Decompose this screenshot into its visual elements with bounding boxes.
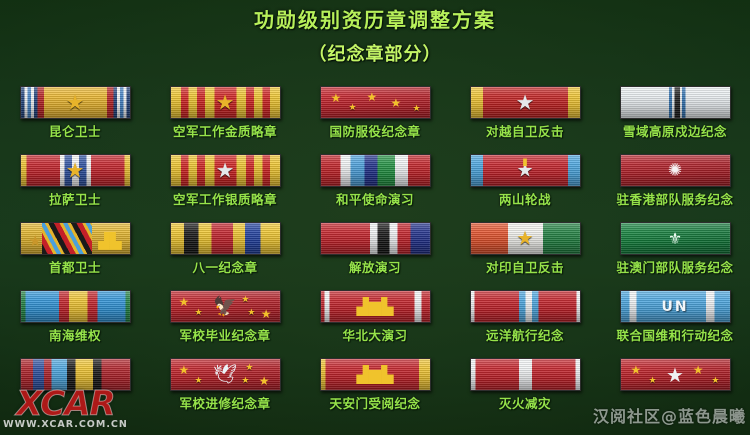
- ribbon-label: 天安门受阅纪念: [329, 396, 420, 411]
- ribbon-cell[interactable]: ★ 昆仑卫士: [0, 86, 150, 154]
- gold-star-icon: ★: [29, 232, 42, 250]
- ribbon-cell[interactable]: ⚜ 驻澳门部队服务纪念: [600, 222, 750, 290]
- ribbon-cell[interactable]: 🕊 ★ ★ ★ ★ ★ 军校进修纪念章: [150, 358, 300, 426]
- gold-star-icon: ★: [241, 376, 249, 386]
- gold-star-icon: ★: [66, 160, 85, 181]
- ribbon-label: 拉萨卫士: [49, 192, 101, 207]
- gold-silver-star-icon: ★: [516, 161, 533, 180]
- ribbon-bar-academy-training[interactable]: 🕊 ★ ★ ★ ★ ★: [170, 358, 281, 391]
- ribbon-label: 远洋航行纪念: [486, 328, 564, 343]
- xcar-url-text: WWW.XCAR.COM.CN: [3, 419, 128, 431]
- ribbon-cell[interactable]: ✺ 驻香港部队服务纪念: [600, 154, 750, 222]
- ribbon-grid: ★ 昆仑卫士 ★ 空军工作金质略章 ★ ★ ★ ★ ★ 国防服役纪念章 ★: [0, 86, 750, 426]
- ribbon-bar-plateau-border[interactable]: [620, 86, 731, 119]
- gold-star-icon: ★: [367, 90, 378, 104]
- ribbon-row: 南海维权 🦅 ★ ★ ★ ★ ★ 军校毕业纪念章 ▟▆▙ 华北大演习 远洋航行纪…: [0, 290, 750, 358]
- ribbon-bar-tiananmen-parade[interactable]: ▟▆▙: [320, 358, 431, 391]
- ribbon-label: 军校毕业纪念章: [179, 328, 270, 343]
- ribbon-label: 国防服役纪念章: [329, 124, 420, 139]
- ribbon-cell[interactable]: ★ 空军工作银质略章: [150, 154, 300, 222]
- ribbon-label: 空军工作金质略章: [173, 124, 277, 139]
- ribbon-label: 空军工作银质略章: [173, 192, 277, 207]
- ribbon-cell[interactable]: ★ 对越自卫反击: [450, 86, 600, 154]
- ribbon-bar-bayi[interactable]: [170, 222, 281, 255]
- ribbon-bar-defense-service[interactable]: ★ ★ ★ ★ ★: [320, 86, 431, 119]
- ribbon-bar-academy-graduation[interactable]: 🦅 ★ ★ ★ ★ ★: [170, 290, 281, 323]
- ribbon-bar-peace-mission[interactable]: [320, 154, 431, 187]
- ribbon-cell[interactable]: ▟▆▙ 华北大演习: [300, 290, 450, 358]
- ribbon-label: 联合国维和行动纪念: [616, 328, 733, 343]
- ribbon-bar-south-sea-rights[interactable]: [20, 290, 131, 323]
- gold-star-icon: ★: [247, 308, 255, 318]
- gold-star-icon: ★: [245, 363, 253, 373]
- gold-star-icon: ★: [331, 91, 342, 105]
- ribbon-label: 对越自卫反击: [486, 124, 564, 139]
- gold-star-icon: ★: [261, 307, 272, 321]
- gold-star-icon: ★: [195, 376, 203, 386]
- gold-star-icon: ▮: [522, 157, 528, 168]
- ribbon-label: 驻香港部队服务纪念: [616, 192, 733, 207]
- gold-star-icon: ★: [631, 363, 642, 377]
- ribbon-cell[interactable]: ★ ▮ 两山轮战: [450, 154, 600, 222]
- gold-star-icon: ★: [259, 374, 270, 388]
- ribbon-label: 驻澳门部队服务纪念: [616, 260, 733, 275]
- gold-star-icon: ★: [179, 295, 190, 309]
- ribbon-bar-macau-garrison[interactable]: ⚜: [620, 222, 731, 255]
- ribbon-bar-airforce-silver[interactable]: ★: [170, 154, 281, 187]
- un-letters-icon: UN: [661, 300, 688, 314]
- ribbon-bar-counterattack-vietnam[interactable]: ★: [470, 86, 581, 119]
- gold-star-icon: ★: [66, 92, 85, 113]
- ribbon-cell[interactable]: ★ 对印自卫反击: [450, 222, 600, 290]
- ribbon-cell[interactable]: 南海维权: [0, 290, 150, 358]
- ribbon-label: 军校进修纪念章: [179, 396, 270, 411]
- ribbon-bar-kunlun[interactable]: ★: [20, 86, 131, 119]
- eagle-icon: 🦅: [213, 297, 237, 316]
- ribbon-bar-row5-col5[interactable]: ★ ★ ★ ★ ★: [620, 358, 731, 391]
- ribbon-bar-firefighting-relief[interactable]: [470, 358, 581, 391]
- page-title: 功勋级别资历章调整方案: [0, 7, 750, 33]
- ribbon-label: 昆仑卫士: [49, 124, 101, 139]
- ribbon-label: 灭火减灾: [499, 396, 551, 411]
- ribbon-cell[interactable]: 八一纪念章: [150, 222, 300, 290]
- ribbon-cell[interactable]: ★ ▟▙ 首都卫士: [0, 222, 150, 290]
- ribbon-bar-un-peacekeeping[interactable]: UN: [620, 290, 731, 323]
- ribbon-bar-counterattack-india[interactable]: ★: [470, 222, 581, 255]
- page-title-block: 功勋级别资历章调整方案 （纪念章部分）: [0, 0, 750, 67]
- bauhinia-flower-icon: ✺: [668, 162, 682, 179]
- ribbon-cell[interactable]: 解放演习: [300, 222, 450, 290]
- ribbon-bar-two-mountains[interactable]: ★ ▮: [470, 154, 581, 187]
- lotus-flower-icon: ⚜: [668, 231, 682, 247]
- xcar-logo-text: XCAR: [3, 389, 128, 419]
- diagonal-stripes: [42, 223, 92, 254]
- gold-star-icon: ★: [693, 363, 704, 377]
- silver-star-icon: ★: [516, 92, 535, 113]
- ribbon-cell[interactable]: UN 联合国维和行动纪念: [600, 290, 750, 358]
- ribbon-label: 对印自卫反击: [486, 260, 564, 275]
- ribbon-bar-lhasa[interactable]: ★: [20, 154, 131, 187]
- ribbon-label: 解放演习: [349, 260, 401, 275]
- ribbon-bar-capital-guard[interactable]: ★ ▟▙: [20, 222, 131, 255]
- gold-star-icon: ★: [216, 92, 235, 113]
- ribbon-label: 南海维权: [49, 328, 101, 343]
- ribbon-label: 华北大演习: [342, 328, 407, 343]
- dove-icon: 🕊: [213, 365, 237, 384]
- xcar-watermark: XCAR WWW.XCAR.COM.CN: [3, 389, 128, 431]
- gold-star-icon: ★: [711, 376, 719, 386]
- ribbon-cell[interactable]: 🦅 ★ ★ ★ ★ ★ 军校毕业纪念章: [150, 290, 300, 358]
- silver-star-icon: ★: [216, 160, 235, 181]
- tiananmen-gate-icon: ▟▆▙: [357, 367, 394, 383]
- ribbon-label: 两山轮战: [499, 192, 551, 207]
- ribbon-cell[interactable]: ▟▆▙ 天安门受阅纪念: [300, 358, 450, 426]
- tiananmen-gate-icon: ▟▆▙: [357, 299, 394, 315]
- gold-star-icon: ★: [195, 308, 203, 318]
- gold-star-icon: ★: [413, 104, 421, 114]
- page-subtitle: （纪念章部分）: [0, 43, 750, 67]
- ribbon-bar-airforce-gold[interactable]: ★: [170, 86, 281, 119]
- gold-star-icon: ★: [516, 229, 533, 248]
- gold-star-icon: ★: [349, 103, 357, 113]
- ribbon-label: 首都卫士: [49, 260, 101, 275]
- ribbon-label: 和平使命演习: [336, 192, 414, 207]
- gold-star-icon: ★: [179, 363, 190, 377]
- ribbon-label: 雪域高原戍边纪念: [623, 124, 727, 139]
- forum-watermark: 汉阅社区@蓝色晨曦: [593, 403, 746, 427]
- ribbon-row: ★ 拉萨卫士 ★ 空军工作银质略章 和平使命演习 ★ ▮ 两山轮战: [0, 154, 750, 222]
- gold-star-icon: ★: [241, 295, 249, 305]
- ribbon-bar-north-china-exercise[interactable]: ▟▆▙: [320, 290, 431, 323]
- gate-icon: ▟▙: [98, 232, 121, 250]
- ribbon-cell[interactable]: 灭火减灾: [450, 358, 600, 426]
- ribbon-cell[interactable]: ★ ★ ★ ★ ★ 国防服役纪念章: [300, 86, 450, 154]
- ribbon-label: 八一纪念章: [192, 260, 257, 275]
- ribbon-row: ★ 昆仑卫士 ★ 空军工作金质略章 ★ ★ ★ ★ ★ 国防服役纪念章 ★: [0, 86, 750, 154]
- ribbon-bar-hongkong-garrison[interactable]: ✺: [620, 154, 731, 187]
- ribbon-row: ★ ▟▙ 首都卫士 八一纪念章 解放演习 ★ 对印自卫反击 ⚜ 驻澳门部队服务: [0, 222, 750, 290]
- ribbon-cell[interactable]: ★ 拉萨卫士: [0, 154, 150, 222]
- silver-star-icon: ★: [666, 365, 684, 385]
- ribbon-cell[interactable]: ★ 空军工作金质略章: [150, 86, 300, 154]
- gold-star-icon: ★: [649, 376, 657, 386]
- ribbon-cell[interactable]: 雪域高原戍边纪念: [600, 86, 750, 154]
- ribbon-bar-liberation-exercise[interactable]: [320, 222, 431, 255]
- ribbon-cell[interactable]: 远洋航行纪念: [450, 290, 600, 358]
- ribbon-bar-ocean-voyage[interactable]: [470, 290, 581, 323]
- ribbon-cell[interactable]: 和平使命演习: [300, 154, 450, 222]
- gold-star-icon: ★: [391, 96, 402, 110]
